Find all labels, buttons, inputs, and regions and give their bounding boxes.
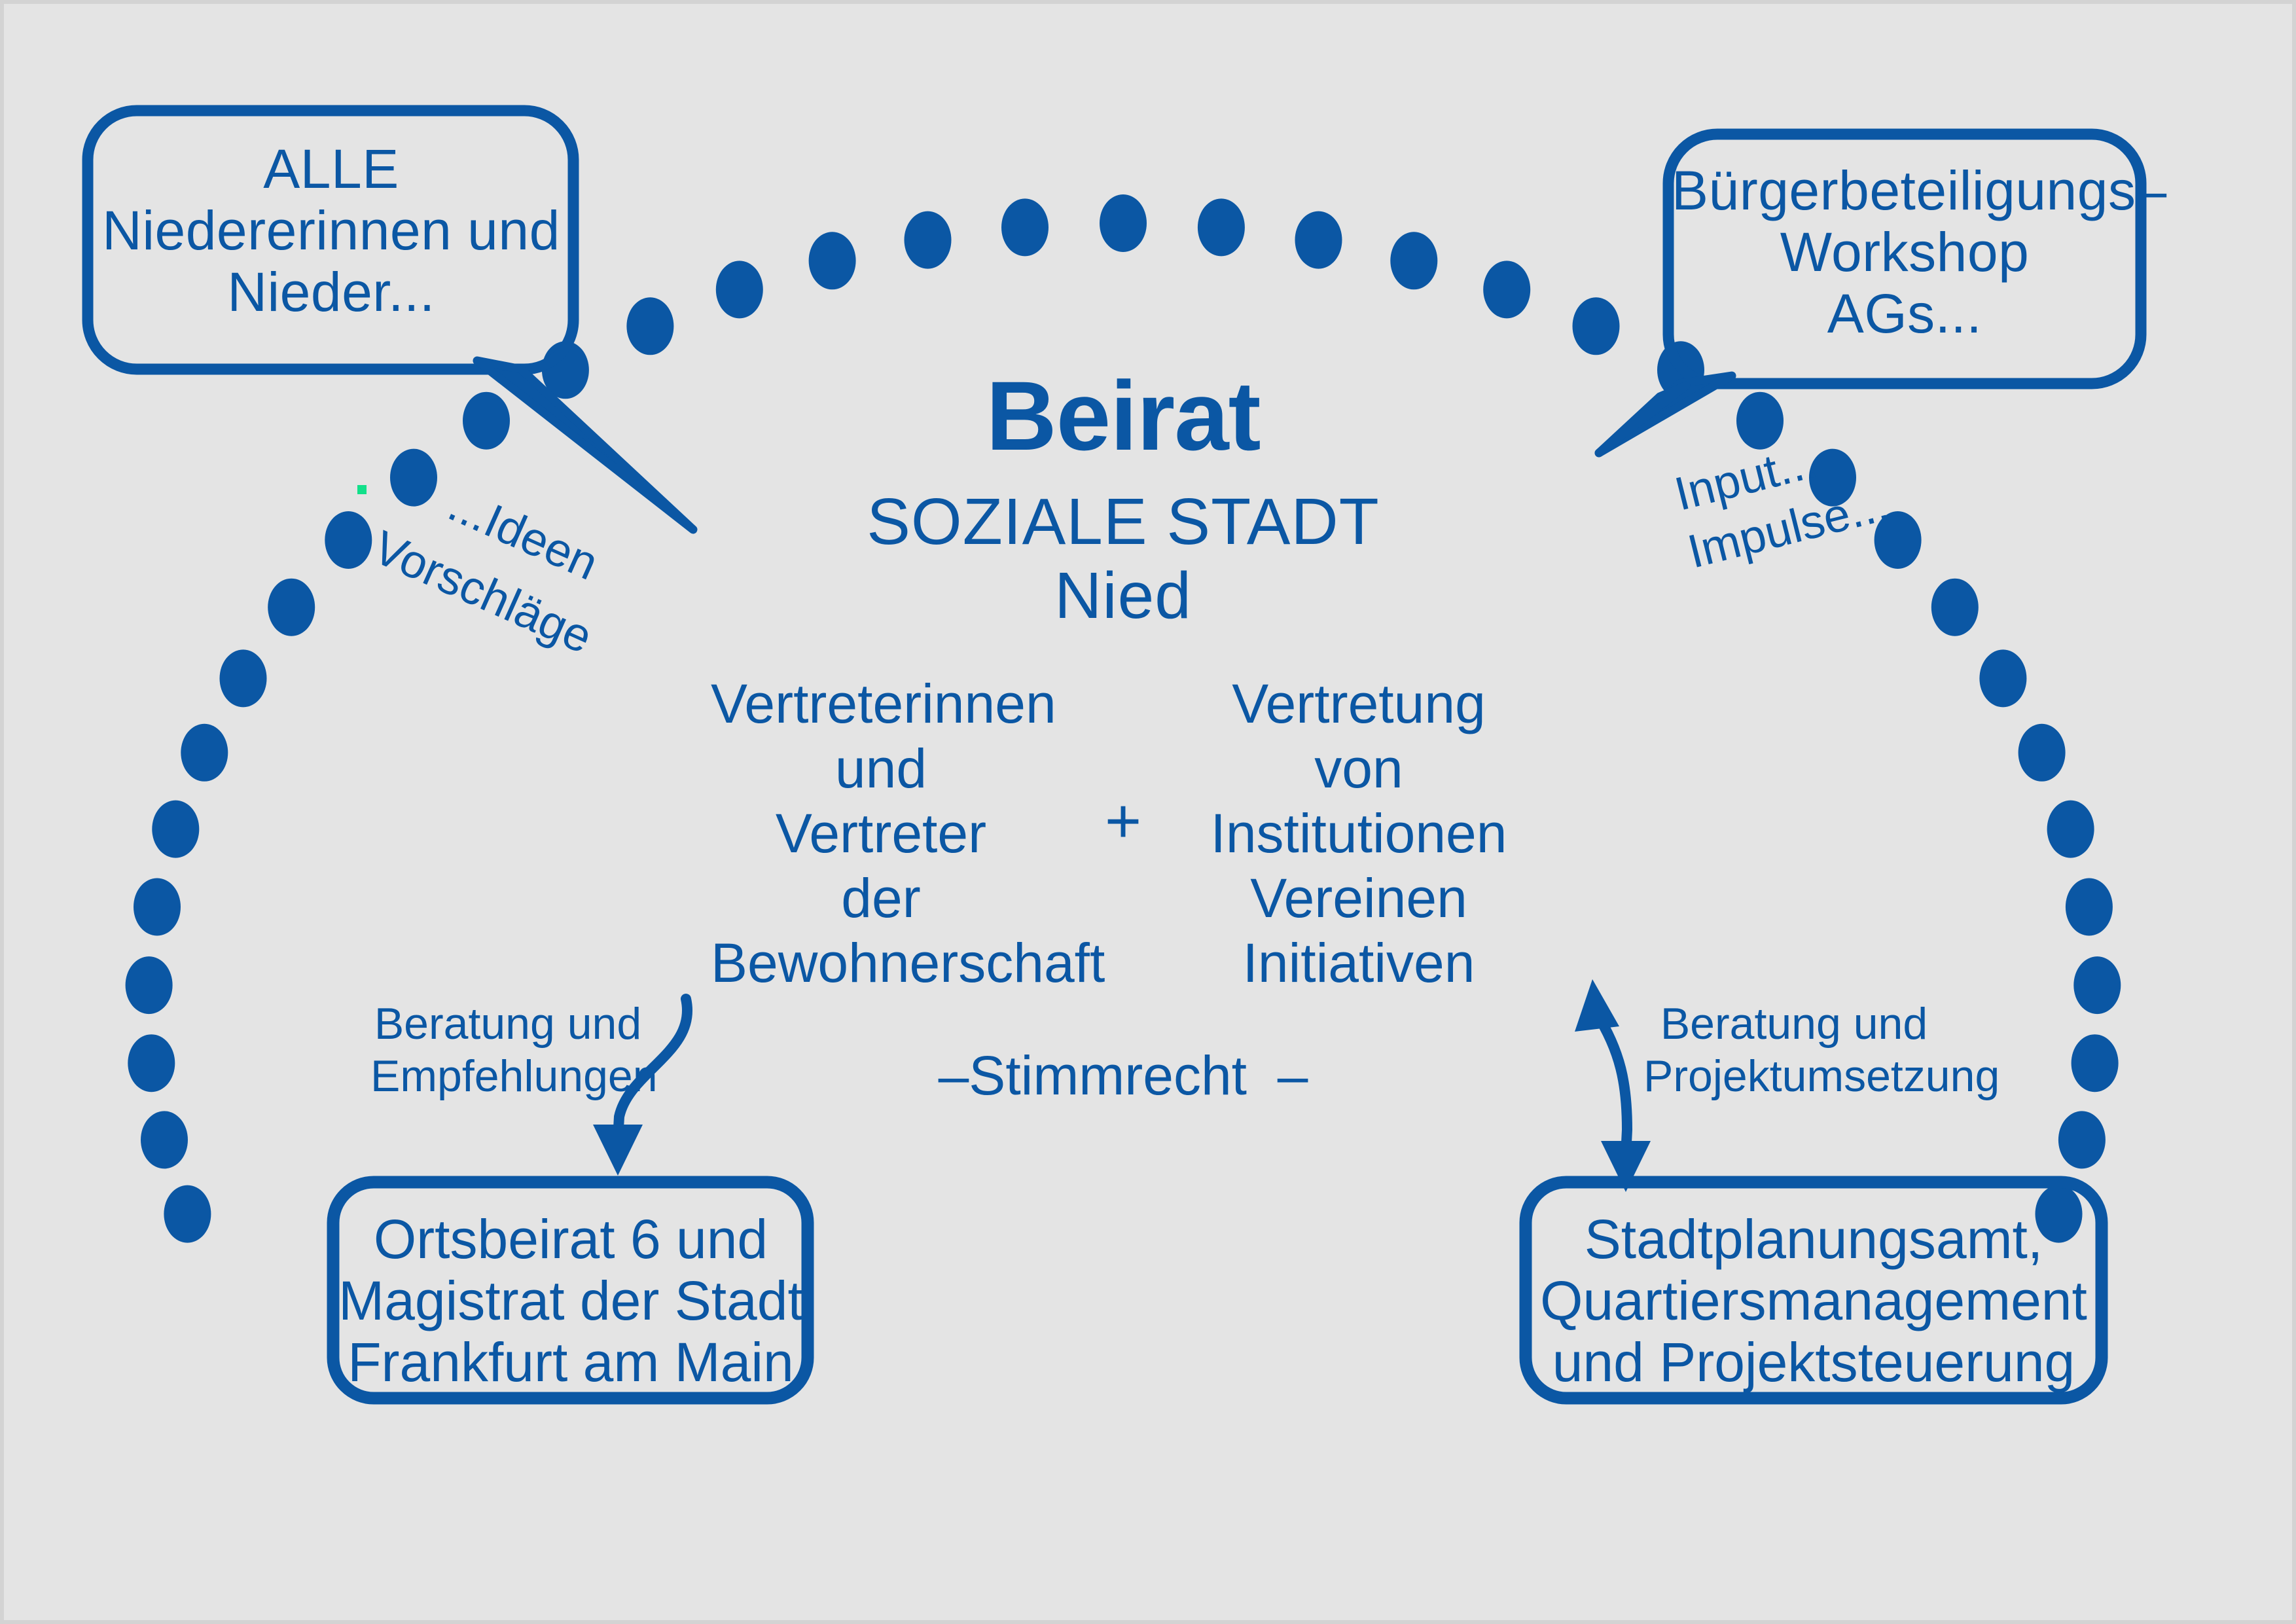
annotation-beratung-projektumsetzung: Beratung und Projektumsetzung [1643, 998, 1945, 1102]
center-subtitle-line1: SOZIALE STADT [829, 485, 1418, 558]
center-footer-stimmrecht: –Stimmrecht – [927, 1045, 1319, 1106]
arrow-beratung-projektumsetzung [1575, 979, 1651, 1192]
box-ortsbeirat-text: Ortsbeirat 6 und Magistrat der Stadt Fra… [338, 1208, 804, 1393]
diagram-canvas: ALLE Niedererinnen und Nieder... Bürgerb… [0, 0, 2296, 1624]
box-stadtplanungsamt-text: Stadtplanungsamt, Quartiersmanagement un… [1530, 1208, 2097, 1393]
green-marker-dot [357, 485, 367, 494]
annotation-beratung-empfehlungen: Beratung und Empfehlungen [370, 998, 645, 1102]
center-left-column: Vertreterinnen und Vertreter der Bewohne… [711, 672, 1051, 996]
speech-bubble-buergerbeteiligung-text: Bürgerbeteiligungs– Workshop AGs... [1672, 160, 2138, 344]
center-plus-operator: + [1087, 786, 1159, 857]
center-subtitle-line2: Nied [829, 559, 1418, 632]
speech-bubble-alle-niederer-text: ALLE Niedererinnen und Nieder... [92, 138, 570, 323]
center-title: Beirat [861, 361, 1385, 471]
center-right-column: Vertretung von Institutionen Vereinen In… [1182, 672, 1535, 996]
